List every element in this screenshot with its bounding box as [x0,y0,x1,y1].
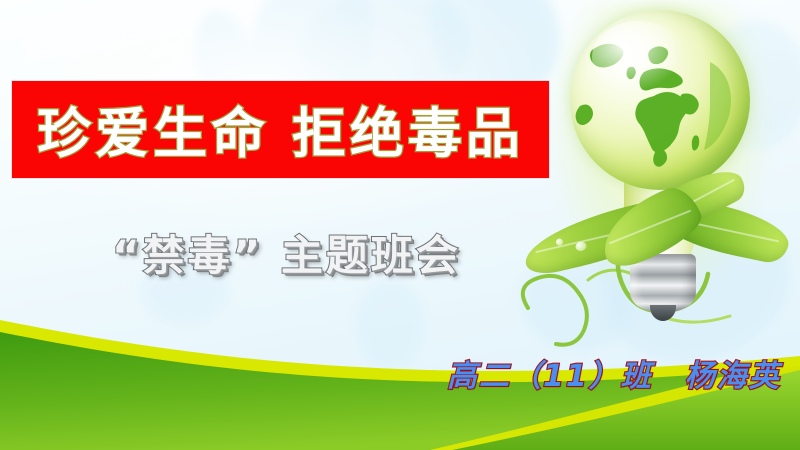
globe-highlight [592,21,686,93]
presentation-slide: 珍爱生命 拒绝毒品 “禁毒” 主题班会 [0,0,800,450]
dew-drop-icon [575,241,588,252]
author-line: 高二（11）班 杨海英 [447,351,781,395]
title-banner: 珍爱生命 拒绝毒品 [12,81,549,178]
globe-icon [570,10,750,190]
subtitle: “禁毒” 主题班会 [112,222,461,283]
page-title: 珍爱生命 拒绝毒品 [12,88,549,167]
